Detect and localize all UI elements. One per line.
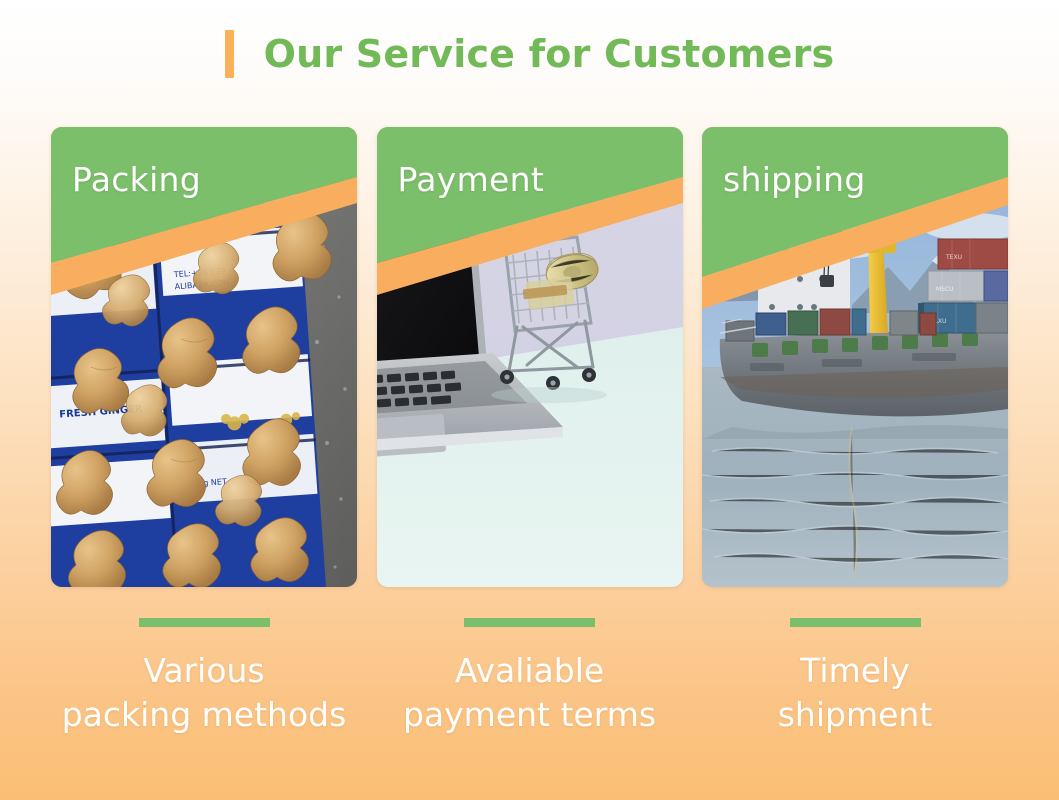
page-title: Our Service for Customers: [264, 32, 835, 76]
caption-divider-bar: [464, 618, 595, 627]
caption-text-shipping: Timely shipment: [778, 649, 933, 737]
svg-text:MSCU: MSCU: [936, 286, 954, 293]
service-card-shipping[interactable]: TEXUMSCU HLXU: [702, 127, 1008, 587]
card-title-shipping: shipping: [723, 160, 866, 199]
page-title-row: Our Service for Customers: [0, 30, 1059, 78]
card-title-packing: Packing: [72, 160, 201, 199]
svg-text:TEXU: TEXU: [945, 254, 962, 261]
service-card-payment[interactable]: Payment: [377, 127, 683, 587]
caption-divider-bar: [790, 618, 921, 627]
caption-text-packing: Various packing methods: [62, 649, 347, 737]
title-accent-bar: [225, 30, 234, 78]
service-card-list: SUPER FRESH GINGER TEL:+86 139 ALIBABA.C…: [51, 127, 1008, 587]
caption-list: Various packing methods Avaliable paymen…: [51, 618, 1008, 768]
caption-divider-bar: [139, 618, 270, 627]
card-title-payment: Payment: [398, 160, 545, 199]
caption-payment: Avaliable payment terms: [377, 618, 683, 768]
caption-shipping: Timely shipment: [702, 618, 1008, 768]
caption-text-payment: Avaliable payment terms: [403, 649, 656, 737]
service-card-packing[interactable]: SUPER FRESH GINGER TEL:+86 139 ALIBABA.C…: [51, 127, 357, 587]
caption-packing: Various packing methods: [51, 618, 357, 768]
